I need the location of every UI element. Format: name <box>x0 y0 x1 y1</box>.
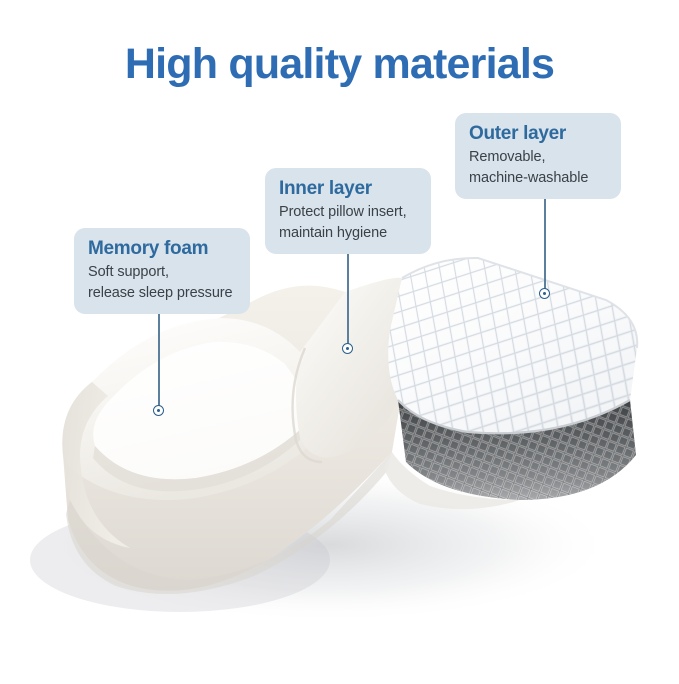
callout-inner-layer-title: Inner layer <box>279 177 417 201</box>
leader-line-outer-layer <box>544 190 546 292</box>
callout-memory-foam-title: Memory foam <box>88 237 236 261</box>
callout-outer-layer-line1: Removable, <box>469 148 607 167</box>
callout-inner-layer: Inner layer Protect pillow insert, maint… <box>265 168 431 254</box>
leader-dot-inner-layer <box>342 343 353 354</box>
leader-line-memory-foam <box>158 306 160 410</box>
product-illustration <box>0 0 679 684</box>
callout-outer-layer-line2: machine-washable <box>469 169 607 188</box>
callout-outer-layer-title: Outer layer <box>469 122 607 146</box>
callout-memory-foam-line1: Soft support, <box>88 263 236 282</box>
leader-dot-memory-foam <box>153 405 164 416</box>
callout-inner-layer-line1: Protect pillow insert, <box>279 203 417 222</box>
callout-memory-foam-line2: release sleep pressure <box>88 284 236 303</box>
leader-dot-outer-layer <box>539 288 550 299</box>
page-title: High quality materials <box>0 40 679 89</box>
callout-inner-layer-line2: maintain hygiene <box>279 224 417 243</box>
infographic-page: High quality materials Memory foam Soft … <box>0 0 679 684</box>
callout-memory-foam: Memory foam Soft support, release sleep … <box>74 228 250 314</box>
callout-outer-layer: Outer layer Removable, machine-washable <box>455 113 621 199</box>
leader-line-inner-layer <box>347 242 349 348</box>
